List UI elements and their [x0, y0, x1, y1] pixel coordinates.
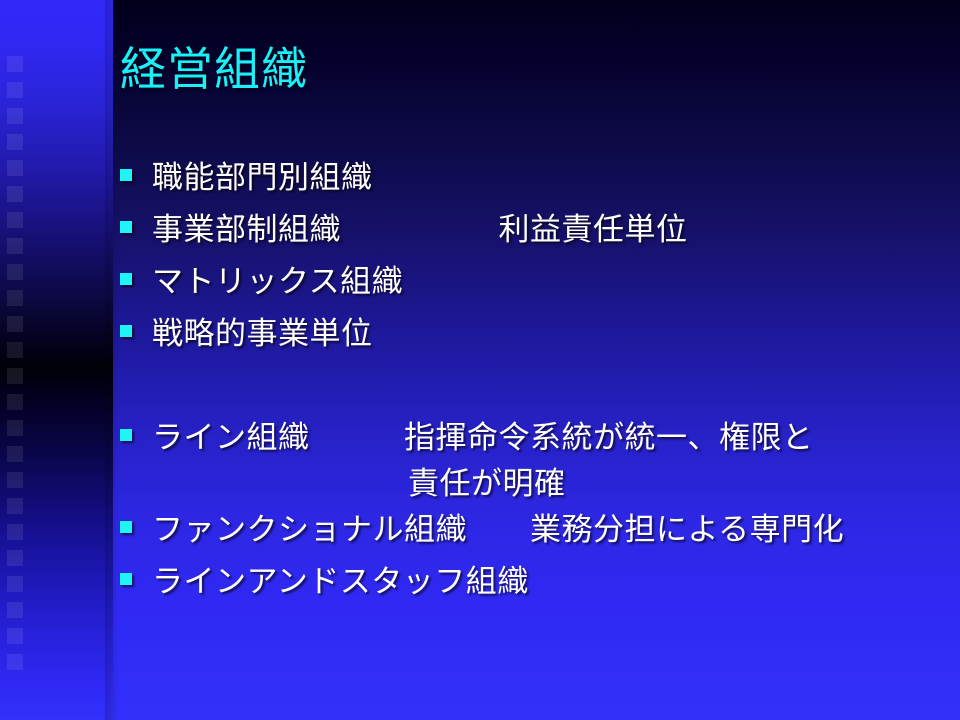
sidebar-square	[7, 342, 23, 358]
bullet-text: 事業部制組織 利益責任単位	[152, 207, 950, 253]
square-bullet-icon	[120, 221, 132, 233]
sidebar-square	[7, 264, 23, 280]
sidebar-square	[7, 472, 23, 488]
sidebar-square	[7, 524, 23, 540]
bullet-row[interactable]: ラインアンドスタッフ組織	[120, 559, 950, 611]
sidebar-square	[7, 316, 23, 332]
sidebar-square	[7, 160, 23, 176]
sidebar-square	[7, 108, 23, 124]
sidebar-square	[7, 628, 23, 644]
bullet-text: 戦略的事業単位	[152, 311, 950, 357]
bullet-row[interactable]: 事業部制組織 利益責任単位	[120, 207, 950, 259]
bullet-row[interactable]: マトリックス組織	[120, 259, 950, 311]
sidebar-square	[7, 290, 23, 306]
bullet-text: ライン組織 指揮命令系統が統一、権限と責任が明確	[152, 415, 950, 507]
sidebar-square	[7, 654, 23, 670]
sidebar-square	[7, 550, 23, 566]
square-bullet-icon	[120, 169, 132, 181]
square-bullet-icon	[120, 273, 132, 285]
bullet-text: ラインアンドスタッフ組織	[152, 559, 950, 605]
square-bullet-icon	[120, 429, 132, 441]
slide-title: 経営組織	[120, 44, 920, 96]
square-bullet-icon	[120, 573, 132, 585]
bullet-row[interactable]: ファンクショナル組織 業務分担による専門化	[120, 507, 950, 559]
bullet-text: ファンクショナル組織 業務分担による専門化	[152, 507, 950, 553]
sidebar-square	[7, 82, 23, 98]
sidebar-square	[7, 368, 23, 384]
bullet-row[interactable]: 戦略的事業単位	[120, 311, 950, 363]
sidebar-square	[7, 446, 23, 462]
sidebar-square	[7, 394, 23, 410]
decorative-sidebar	[0, 0, 113, 720]
sidebar-square	[7, 134, 23, 150]
bullet-continuation-line: 責任が明確	[152, 461, 950, 507]
sidebar-square-pattern	[7, 56, 23, 676]
sidebar-square	[7, 212, 23, 228]
bullet-text: 職能部門別組織	[152, 155, 950, 201]
bullet-row[interactable]: 職能部門別組織	[120, 155, 950, 207]
sidebar-square	[7, 238, 23, 254]
sidebar-square	[7, 602, 23, 618]
bullet-list: 職能部門別組織事業部制組織 利益責任単位マトリックス組織戦略的事業単位ライン組織…	[120, 155, 950, 611]
square-bullet-icon	[120, 521, 132, 533]
square-bullet-icon	[120, 325, 132, 337]
sidebar-square	[7, 56, 23, 72]
presentation-slide: 経営組織 職能部門別組織事業部制組織 利益責任単位マトリックス組織戦略的事業単位…	[0, 0, 960, 720]
sidebar-square	[7, 576, 23, 592]
bullet-text: マトリックス組織	[152, 259, 950, 305]
sidebar-square	[7, 498, 23, 514]
sidebar-square	[7, 420, 23, 436]
bullet-row[interactable]: ライン組織 指揮命令系統が統一、権限と責任が明確	[120, 415, 950, 507]
sidebar-square	[7, 186, 23, 202]
